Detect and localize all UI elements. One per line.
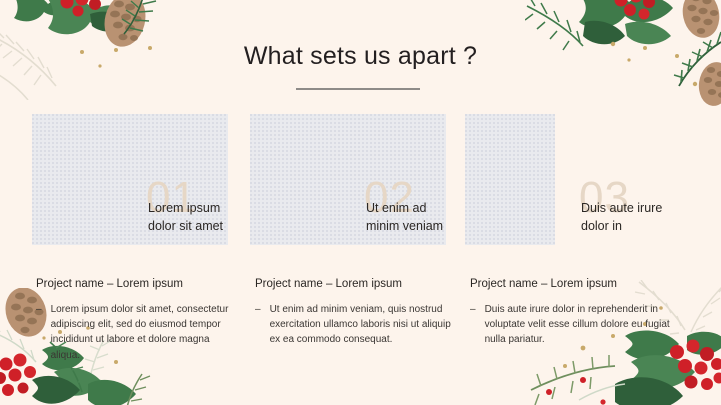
project-body-3: Duis aute irure dolor in reprehenderit i… [485,302,685,348]
holly-leaf-icon [12,0,136,34]
berry-icon [0,354,36,397]
bullet-item-3: – Duis aute irure dolor in reprehenderit… [470,302,685,348]
bullet-dash-icon: – [255,302,261,317]
project-title-1: Project name – Lorem ipsum [36,278,241,290]
holly-leaf-icon [579,0,673,44]
berry-icon [615,0,656,20]
project-title-3: Project name – Lorem ipsum [470,278,685,290]
pine-branch-icon [531,355,625,405]
bullet-dash-icon: – [470,302,476,317]
title-underline-divider [296,88,420,90]
bullet-dash-icon: – [36,302,42,317]
image-placeholder-3[interactable] [465,114,555,245]
project-body-2: Ut enim ad minim veniam, quis nostrud ex… [270,302,460,348]
berry-icon [546,377,606,405]
bullet-item-1: – Lorem ipsum dolor sit amet, consectetu… [36,302,241,363]
project-block-1: Project name – Lorem ipsum – Lorem ipsum… [36,278,241,363]
bullet-item-2: – Ut enim ad minim veniam, quis nostrud … [255,302,460,348]
project-title-2: Project name – Lorem ipsum [255,278,460,290]
page-title: What sets us apart ? [0,42,721,71]
project-block-3: Project name – Lorem ipsum – Duis aute i… [470,278,685,348]
project-block-2: Project name – Lorem ipsum – Ut enim ad … [255,278,460,348]
berry-icon [61,0,102,17]
project-body-1: Lorem ipsum dolor sit amet, consectetur … [51,302,241,363]
pine-branch-icon [122,0,158,34]
slide-canvas: What sets us apart ? 01 Lorem ipsum dolo… [0,0,721,405]
feature-caption-3: Duis aute irure dolor in [581,200,711,236]
